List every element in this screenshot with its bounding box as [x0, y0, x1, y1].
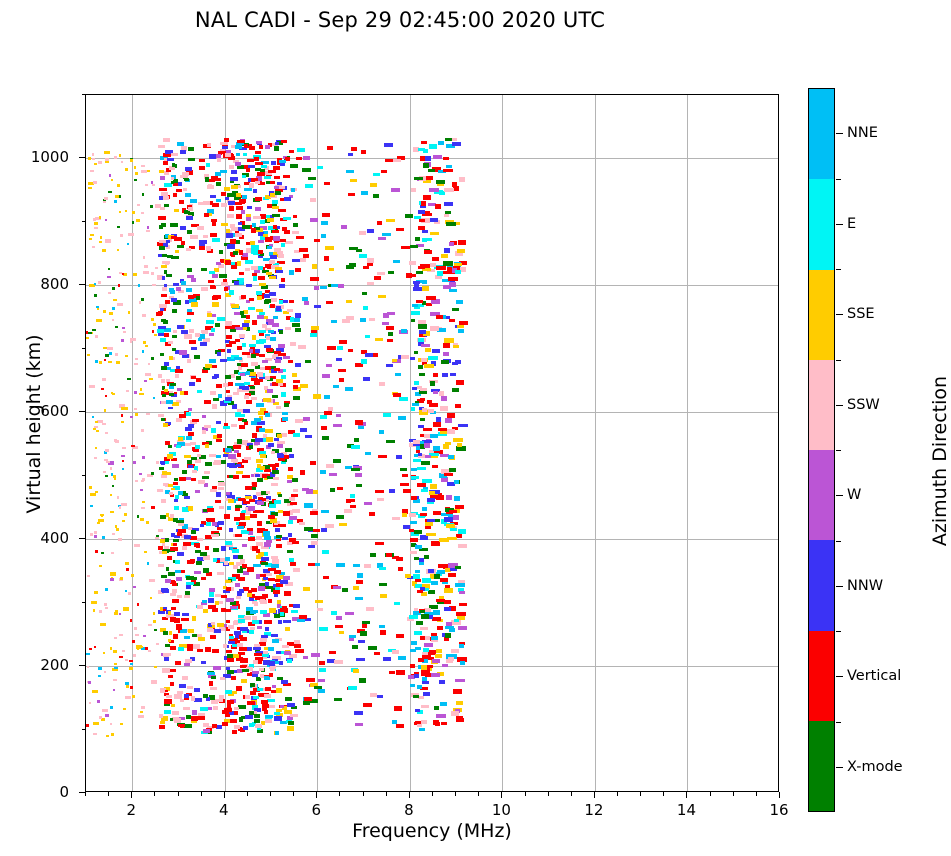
scatter-point	[411, 188, 416, 192]
scatter-point	[310, 511, 318, 515]
scatter-point	[233, 392, 239, 395]
scatter-point	[138, 715, 144, 718]
scatter-point	[169, 393, 174, 396]
scatter-point	[253, 276, 258, 280]
scatter-point	[264, 345, 271, 348]
scatter-point	[203, 609, 208, 612]
scatter-point	[227, 349, 231, 353]
scatter-point	[305, 184, 313, 188]
scatter-point	[122, 520, 125, 522]
scatter-point	[436, 315, 443, 319]
scatter-point	[103, 310, 107, 313]
scatter-point	[92, 246, 95, 248]
scatter-point	[421, 720, 426, 724]
scatter-point	[134, 408, 137, 411]
scatter-point	[334, 660, 342, 664]
scatter-point	[207, 707, 211, 710]
scatter-point	[127, 378, 131, 380]
scatter-point	[388, 332, 394, 336]
scatter-point	[428, 590, 435, 594]
scatter-point	[353, 564, 359, 567]
scatter-point	[227, 700, 234, 704]
scatter-point	[165, 690, 168, 693]
scatter-point	[187, 460, 192, 464]
scatter-point	[158, 529, 163, 532]
scatter-point	[218, 487, 224, 490]
scatter-point	[424, 434, 431, 438]
scatter-point	[445, 626, 455, 629]
scatter-point	[268, 443, 274, 447]
scatter-point	[287, 309, 293, 312]
scatter-point	[214, 268, 218, 272]
scatter-point	[396, 455, 403, 458]
scatter-point	[314, 239, 320, 243]
scatter-point	[215, 601, 219, 604]
scatter-point	[134, 179, 138, 182]
scatter-point	[90, 170, 94, 173]
scatter-point	[187, 560, 194, 564]
x-minor-tick	[131, 792, 132, 796]
scatter-point	[375, 490, 384, 493]
scatter-point	[265, 687, 271, 691]
colorbar-tick	[836, 676, 843, 677]
scatter-point	[97, 522, 100, 524]
scatter-point	[449, 289, 458, 292]
scatter-point	[396, 670, 405, 674]
scatter-point	[422, 479, 432, 482]
scatter-point	[198, 716, 206, 720]
scatter-point	[221, 282, 228, 286]
scatter-point	[195, 445, 200, 449]
scatter-point	[458, 529, 467, 534]
scatter-point	[245, 260, 253, 264]
scatter-point	[320, 470, 327, 473]
x-minor-tick	[270, 792, 271, 796]
scatter-point	[290, 562, 296, 566]
scatter-point	[256, 549, 260, 553]
scatter-point	[431, 636, 438, 640]
scatter-point	[428, 569, 434, 573]
scatter-point	[415, 545, 422, 549]
scatter-point	[252, 671, 260, 674]
scatter-point	[249, 183, 254, 187]
scatter-point	[411, 641, 417, 645]
scatter-point	[295, 649, 303, 652]
scatter-point	[264, 536, 271, 540]
scatter-point	[114, 200, 117, 203]
scatter-point	[225, 557, 231, 561]
scatter-point	[225, 541, 232, 544]
scatter-point	[415, 579, 421, 582]
scatter-point	[162, 551, 167, 554]
x-axis-label: Frequency (MHz)	[85, 820, 779, 842]
scatter-point	[224, 514, 230, 518]
scatter-point	[159, 725, 164, 729]
scatter-point	[135, 358, 137, 360]
scatter-point	[282, 417, 289, 421]
scatter-point	[290, 164, 298, 168]
scatter-point	[433, 610, 441, 614]
scatter-point	[409, 615, 415, 618]
scatter-point	[154, 334, 157, 337]
scatter-point	[288, 520, 294, 524]
x-minor-tick	[339, 792, 340, 796]
scatter-point	[276, 688, 282, 692]
scatter-point	[289, 538, 296, 542]
scatter-point	[360, 318, 366, 322]
scatter-point	[271, 634, 279, 637]
scatter-point	[136, 219, 140, 222]
scatter-point	[212, 302, 220, 306]
scatter-point	[410, 357, 416, 360]
scatter-point	[379, 382, 385, 386]
colorbar-boundary-tick	[836, 722, 841, 723]
scatter-point	[142, 193, 144, 195]
scatter-point	[227, 244, 234, 248]
scatter-point	[365, 353, 374, 357]
scatter-point	[296, 236, 304, 239]
y-minor-tick	[82, 538, 86, 539]
scatter-point	[222, 146, 228, 149]
scatter-point	[348, 193, 355, 197]
scatter-point	[321, 234, 326, 238]
scatter-point	[162, 287, 167, 290]
scatter-point	[202, 415, 206, 418]
scatter-point	[164, 389, 168, 392]
scatter-point	[159, 188, 167, 191]
scatter-point	[428, 356, 438, 361]
scatter-point	[204, 471, 210, 474]
scatter-point	[452, 388, 458, 392]
scatter-point	[236, 376, 242, 380]
scatter-point	[271, 451, 275, 454]
scatter-point	[459, 644, 464, 648]
scatter-point	[89, 385, 95, 388]
azimuth-colorbar	[808, 88, 835, 812]
scatter-point	[271, 161, 276, 165]
scatter-point	[279, 300, 283, 304]
scatter-point	[216, 154, 221, 158]
scatter-point	[113, 689, 115, 691]
scatter-point	[383, 657, 391, 661]
scatter-point	[201, 577, 205, 580]
scatter-point	[242, 419, 247, 423]
scatter-point	[293, 433, 300, 437]
scatter-point	[415, 570, 420, 574]
scatter-point	[163, 423, 167, 427]
scatter-point	[251, 362, 257, 365]
scatter-point	[148, 363, 150, 365]
scatter-point	[159, 225, 164, 229]
scatter-point	[174, 478, 178, 482]
scatter-point	[421, 705, 429, 708]
scatter-point	[422, 408, 427, 412]
scatter-point	[191, 278, 196, 281]
scatter-point	[113, 475, 116, 478]
scatter-point	[318, 679, 324, 683]
scatter-point	[197, 538, 204, 541]
scatter-point	[392, 359, 397, 362]
scatter-point	[217, 572, 224, 576]
scatter-point	[351, 468, 360, 471]
scatter-point	[242, 544, 247, 547]
scatter-point	[265, 237, 271, 241]
scatter-point	[342, 319, 350, 323]
scatter-point	[163, 631, 167, 634]
scatter-point	[121, 414, 123, 416]
scatter-point	[405, 214, 413, 217]
scatter-point	[210, 195, 216, 198]
y-axis-label: Virtual height (km)	[23, 274, 45, 574]
scatter-point	[209, 333, 214, 336]
scatter-point	[419, 330, 425, 334]
scatter-point	[449, 510, 457, 513]
scatter-point	[435, 204, 440, 209]
scatter-point	[167, 556, 172, 559]
scatter-point	[287, 703, 295, 706]
scatter-point	[225, 153, 231, 156]
scatter-point	[130, 663, 133, 665]
scatter-point	[229, 341, 236, 344]
scatter-point	[313, 529, 320, 532]
scatter-point	[89, 238, 92, 240]
scatter-point	[186, 436, 192, 440]
x-minor-tick	[733, 792, 734, 796]
scatter-point	[254, 719, 260, 723]
scatter-point	[315, 600, 324, 603]
scatter-point	[246, 217, 252, 221]
scatter-point	[220, 677, 225, 680]
scatter-point	[234, 711, 239, 715]
scatter-point	[410, 664, 415, 667]
scatter-point	[251, 245, 258, 249]
scatter-point	[321, 426, 327, 430]
scatter-point	[236, 464, 241, 467]
scatter-point	[191, 376, 196, 379]
scatter-point	[114, 667, 118, 669]
scatter-point	[402, 474, 408, 477]
scatter-point	[199, 334, 205, 338]
scatter-point	[197, 226, 204, 230]
x-tick-label: 16	[756, 801, 802, 819]
colorbar-boundary-tick	[836, 450, 841, 451]
scatter-point	[157, 329, 164, 333]
scatter-point	[221, 223, 228, 226]
scatter-point	[434, 706, 439, 709]
scatter-point	[396, 557, 403, 561]
scatter-point	[269, 673, 273, 677]
scatter-point	[237, 526, 244, 529]
colorbar-title: Azimuth Direction	[929, 311, 951, 611]
scatter-point	[235, 534, 241, 537]
scatter-point	[338, 369, 346, 372]
scatter-point	[238, 619, 245, 623]
scatter-point	[174, 612, 180, 616]
scatter-point	[125, 210, 128, 212]
scatter-point	[205, 546, 209, 550]
scatter-point	[264, 542, 271, 546]
scatter-point	[158, 414, 164, 417]
scatter-point	[364, 564, 371, 568]
scatter-point	[175, 250, 179, 254]
scatter-point	[177, 595, 182, 598]
scatter-point	[379, 583, 388, 587]
scatter-point	[444, 188, 454, 192]
scatter-point	[183, 707, 190, 710]
scatter-point	[367, 282, 374, 286]
scatter-point	[261, 216, 266, 219]
scatter-point	[149, 378, 153, 380]
scatter-point	[174, 718, 181, 722]
scatter-point	[142, 456, 146, 459]
scatter-point	[236, 686, 242, 690]
scatter-point	[171, 298, 177, 302]
scatter-point	[298, 345, 306, 349]
scatter-point	[143, 341, 146, 344]
scatter-point	[211, 622, 215, 626]
scatter-point	[251, 354, 256, 358]
scatter-point	[249, 630, 253, 634]
x-minor-tick	[178, 792, 179, 796]
scatter-point	[227, 704, 231, 708]
scatter-point	[165, 300, 171, 304]
scatter-point	[421, 201, 426, 205]
scatter-point	[155, 267, 158, 269]
scatter-point	[242, 669, 249, 672]
scatter-point	[199, 240, 207, 244]
scatter-point	[151, 506, 155, 509]
scatter-point	[170, 646, 176, 650]
scatter-point	[389, 489, 395, 493]
scatter-point	[373, 194, 379, 198]
scatter-point	[252, 433, 257, 437]
scatter-point	[326, 364, 332, 367]
scatter-point	[374, 652, 380, 655]
scatter-point	[229, 290, 234, 294]
scatter-point	[324, 395, 330, 399]
x-minor-tick	[617, 792, 618, 796]
scatter-point	[418, 338, 424, 341]
scatter-point	[153, 620, 156, 622]
scatter-point	[246, 400, 252, 404]
scatter-point	[192, 419, 199, 422]
scatter-point	[276, 535, 283, 538]
scatter-point	[181, 241, 185, 245]
scatter-point	[117, 496, 120, 498]
scatter-point	[105, 354, 109, 357]
scatter-point	[417, 483, 425, 487]
scatter-point	[147, 562, 150, 565]
scatter-point	[448, 455, 454, 458]
scatter-point	[333, 424, 342, 427]
scatter-point	[208, 280, 213, 283]
scatter-point	[431, 673, 441, 677]
scatter-point	[441, 254, 448, 258]
scatter-point	[171, 153, 177, 156]
scatter-point	[212, 238, 220, 242]
scatter-point	[245, 695, 250, 699]
scatter-point	[325, 246, 334, 250]
scatter-point	[175, 661, 181, 664]
scatter-point	[433, 373, 439, 378]
scatter-point	[121, 339, 124, 342]
scatter-point	[293, 489, 298, 492]
scatter-point	[242, 195, 247, 199]
scatter-point	[380, 630, 386, 634]
scatter-point	[92, 153, 94, 156]
scatter-point	[269, 661, 274, 665]
scatter-point	[223, 644, 228, 647]
scatter-point	[246, 371, 250, 374]
scatter-point	[437, 626, 443, 629]
scatter-point	[194, 688, 200, 692]
scatter-point	[149, 579, 155, 582]
scatter-point	[459, 591, 465, 594]
scatter-point	[196, 561, 202, 565]
scatter-point	[115, 326, 118, 328]
scatter-point	[270, 193, 275, 197]
scatter-point	[207, 508, 213, 511]
scatter-point	[285, 627, 291, 631]
scatter-point	[267, 699, 275, 703]
scatter-point	[420, 636, 425, 640]
scatter-point	[112, 533, 115, 535]
scatter-point	[151, 181, 153, 184]
scatter-point	[411, 476, 419, 479]
scatter-point	[296, 157, 302, 160]
scatter-point	[336, 616, 342, 620]
scatter-point	[444, 607, 451, 611]
scatter-point	[92, 158, 95, 161]
scatter-point	[300, 258, 306, 261]
scatter-point	[224, 187, 231, 191]
scatter-point	[137, 515, 140, 518]
scatter-point	[258, 240, 264, 243]
scatter-point	[238, 222, 242, 225]
scatter-point	[268, 647, 273, 651]
scatter-point	[248, 506, 254, 510]
scatter-point	[272, 639, 278, 642]
scatter-point	[289, 558, 294, 561]
scatter-point	[132, 221, 134, 224]
scatter-point	[294, 644, 300, 648]
scatter-point	[359, 254, 367, 258]
scatter-point	[184, 663, 190, 666]
scatter-point	[293, 385, 297, 389]
scatter-point	[423, 163, 429, 168]
scatter-point	[100, 514, 104, 516]
scatter-point	[284, 651, 291, 655]
scatter-point	[214, 374, 219, 378]
scatter-point	[155, 537, 158, 539]
scatter-point	[239, 334, 245, 338]
scatter-point	[112, 319, 114, 321]
scatter-point	[203, 694, 208, 698]
scatter-point	[422, 238, 428, 242]
scatter-point	[258, 266, 263, 270]
scatter-point	[147, 170, 150, 172]
scatter-point	[412, 387, 418, 391]
scatter-point	[116, 361, 120, 363]
scatter-point	[146, 413, 150, 415]
scatter-point	[102, 378, 106, 381]
scatter-point	[168, 675, 172, 679]
scatter-point	[282, 412, 288, 415]
x-tick-label: 2	[108, 801, 154, 819]
colorbar-label-ssw: SSW	[847, 397, 880, 413]
scatter-point	[413, 695, 419, 698]
scatter-point	[225, 197, 229, 200]
